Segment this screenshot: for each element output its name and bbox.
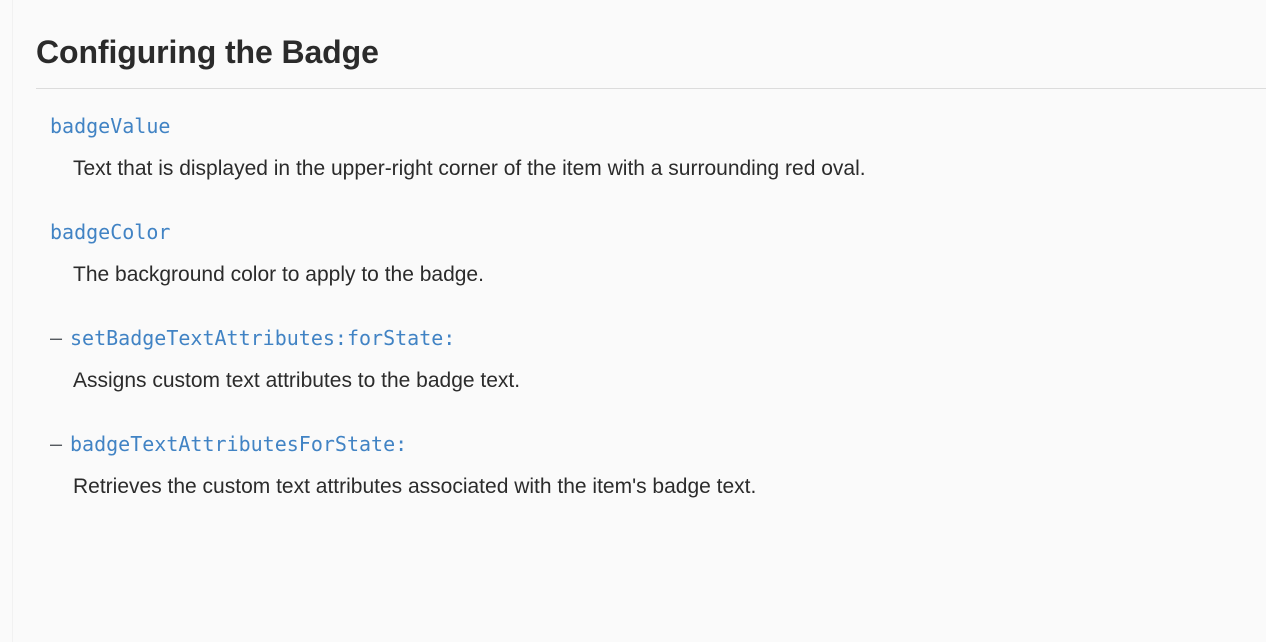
api-description: Assigns custom text attributes to the ba… <box>36 367 1266 395</box>
api-entry-badge-value: badgeValue Text that is displayed in the… <box>36 89 1266 183</box>
api-term: –badgeTextAttributesForState: <box>36 431 1266 457</box>
api-entry-badge-text-attributes-for-state: –badgeTextAttributesForState: Retrieves … <box>36 395 1266 501</box>
api-term: badgeColor <box>36 219 1266 245</box>
page-title: Configuring the Badge <box>36 0 1266 74</box>
api-term: badgeValue <box>36 113 1266 139</box>
api-link-set-badge-text-attributes[interactable]: setBadgeTextAttributes:forState: <box>70 326 455 350</box>
api-link-badge-value[interactable]: badgeValue <box>50 114 170 138</box>
instance-method-dash-icon: – <box>50 325 70 351</box>
api-definition-list: badgeValue Text that is displayed in the… <box>36 89 1266 501</box>
api-description: The background color to apply to the bad… <box>36 261 1266 289</box>
api-entry-set-badge-text-attributes: –setBadgeTextAttributes:forState: Assign… <box>36 289 1266 395</box>
api-description: Retrieves the custom text attributes ass… <box>36 473 1266 501</box>
content-container-edge <box>12 0 13 642</box>
instance-method-dash-icon: – <box>50 431 70 457</box>
api-link-badge-text-attributes-for-state[interactable]: badgeTextAttributesForState: <box>70 432 407 456</box>
api-description: Text that is displayed in the upper-righ… <box>36 155 1266 183</box>
api-entry-badge-color: badgeColor The background color to apply… <box>36 183 1266 289</box>
documentation-page: Configuring the Badge badgeValue Text th… <box>0 0 1266 642</box>
content-area: Configuring the Badge badgeValue Text th… <box>36 0 1266 642</box>
api-term: –setBadgeTextAttributes:forState: <box>36 325 1266 351</box>
api-link-badge-color[interactable]: badgeColor <box>50 220 170 244</box>
